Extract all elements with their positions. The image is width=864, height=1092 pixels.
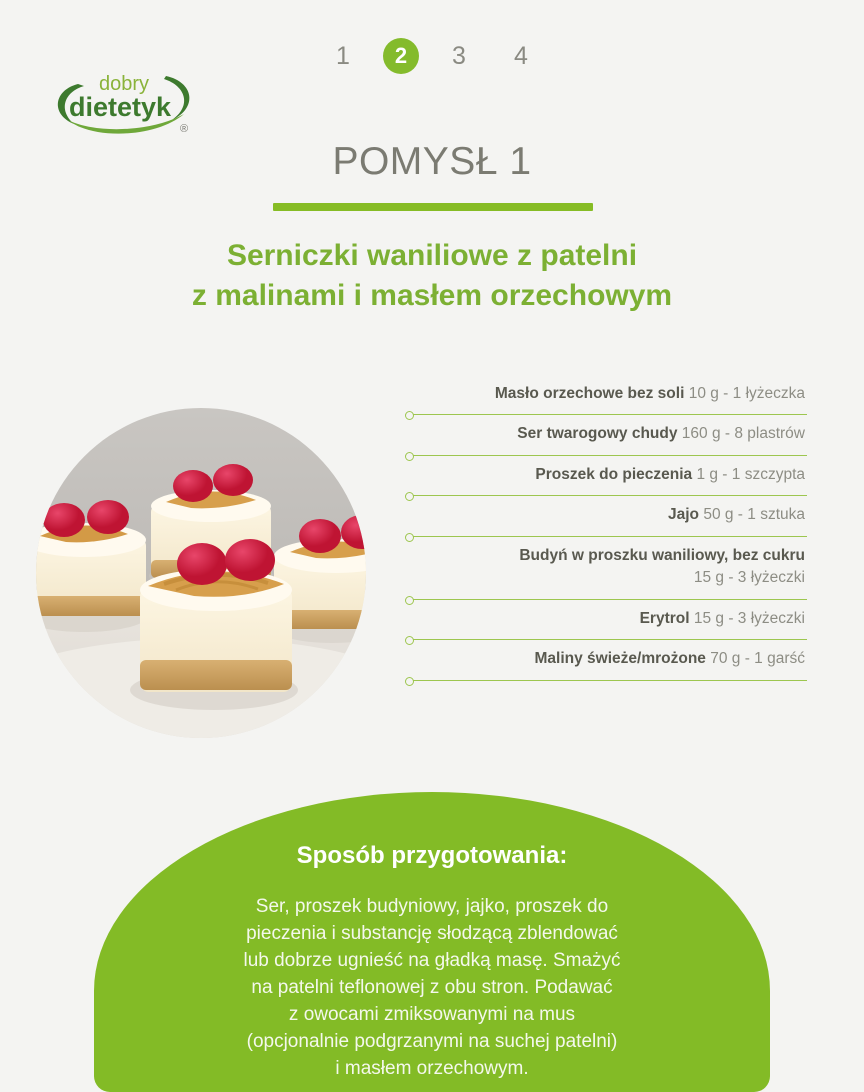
pagination-page-4[interactable]: 4 <box>499 34 543 78</box>
preparation-text: Ser, proszek budyniowy, jajko, proszek d… <box>152 894 712 1083</box>
ingredient-quantity: 15 g - 3 łyżeczki <box>405 567 805 589</box>
preparation-line-1: Ser, proszek budyniowy, jajko, proszek d… <box>256 896 608 917</box>
ingredient-quantity: 70 g - 1 garść <box>706 650 805 667</box>
ingredient-separator <box>409 495 807 496</box>
recipe-title-line-1: Serniczki waniliowe z patelni <box>227 239 637 272</box>
recipe-photo <box>36 408 366 738</box>
recipe-title-line-2: z malinami i masłem orzechowym <box>192 279 672 312</box>
ingredient-row: Maliny świeże/mrożone 70 g - 1 garść <box>405 648 807 670</box>
preparation-panel: Sposób przygotowania: Ser, proszek budyn… <box>94 792 770 1092</box>
ingredient-separator <box>409 599 807 600</box>
page-title: POMYSŁ 1 <box>0 140 864 184</box>
preparation-line-4: na patelni teflonowej z obu stron. Podaw… <box>251 977 612 998</box>
ingredient-row: Jajo 50 g - 1 sztuka <box>405 504 807 526</box>
brand-logo: dobry dietetyk ® <box>48 62 200 138</box>
ingredients-list: Masło orzechowe bez soli 10 g - 1 łyżecz… <box>405 383 807 689</box>
ingredient-name: Ser twarogowy chudy <box>517 425 677 442</box>
ingredient-separator <box>409 455 807 456</box>
ingredient-row: Budyń w proszku waniliowy, bez cukru15 g… <box>405 545 807 590</box>
preparation-line-7: i masłem orzechowym. <box>335 1058 528 1079</box>
ingredient-name: Jajo <box>668 506 699 523</box>
ingredient-row: Proszek do pieczenia 1 g - 1 szczypta <box>405 464 807 486</box>
preparation-line-5: z owocami zmiksowanymi na mus <box>289 1004 575 1025</box>
ingredient-separator <box>409 680 807 681</box>
ingredient-name: Erytrol <box>640 610 690 627</box>
recipe-photo-illustration <box>36 408 366 738</box>
preparation-line-6: (opcjonalnie podgrzanymi na suchej patel… <box>247 1031 618 1052</box>
ingredient-name: Maliny świeże/mrożone <box>535 650 706 667</box>
ingredient-name: Budyń w proszku waniliowy, bez cukru <box>519 547 805 564</box>
ingredient-separator <box>409 639 807 640</box>
ingredient-separator <box>409 536 807 537</box>
ingredient-quantity: 50 g - 1 sztuka <box>699 506 805 523</box>
pagination-page-2[interactable]: 2 <box>383 38 419 74</box>
logo-graphic: dobry dietetyk ® <box>48 62 200 138</box>
ingredient-row: Erytrol 15 g - 3 łyżeczki <box>405 608 807 630</box>
title-underline-rule <box>273 203 593 211</box>
ingredient-quantity: 10 g - 1 łyżeczka <box>684 385 805 402</box>
ingredient-name: Masło orzechowe bez soli <box>495 385 685 402</box>
ingredient-separator <box>409 414 807 415</box>
registered-trademark-icon: ® <box>180 123 188 135</box>
ingredient-row: Masło orzechowe bez soli 10 g - 1 łyżecz… <box>405 383 807 405</box>
pagination-page-1[interactable]: 1 <box>321 34 365 78</box>
preparation-line-3: lub dobrze ugnieść na gładką masę. Smaży… <box>243 950 620 971</box>
preparation-heading: Sposób przygotowania: <box>94 842 770 870</box>
ingredient-quantity: 1 g - 1 szczypta <box>692 466 805 483</box>
preparation-line-2: pieczenia i substancję słodzącą zblendow… <box>246 923 618 944</box>
pagination-page-3[interactable]: 3 <box>437 34 481 78</box>
recipe-title: Serniczki waniliowe z patelni z malinami… <box>0 236 864 315</box>
ingredient-quantity: 160 g - 8 plastrów <box>677 425 805 442</box>
logo-text-dietetyk: dietetyk <box>69 92 172 122</box>
ingredient-row: Ser twarogowy chudy 160 g - 8 plastrów <box>405 423 807 445</box>
ingredient-name: Proszek do pieczenia <box>535 466 692 483</box>
ingredient-quantity: 15 g - 3 łyżeczki <box>690 610 805 627</box>
